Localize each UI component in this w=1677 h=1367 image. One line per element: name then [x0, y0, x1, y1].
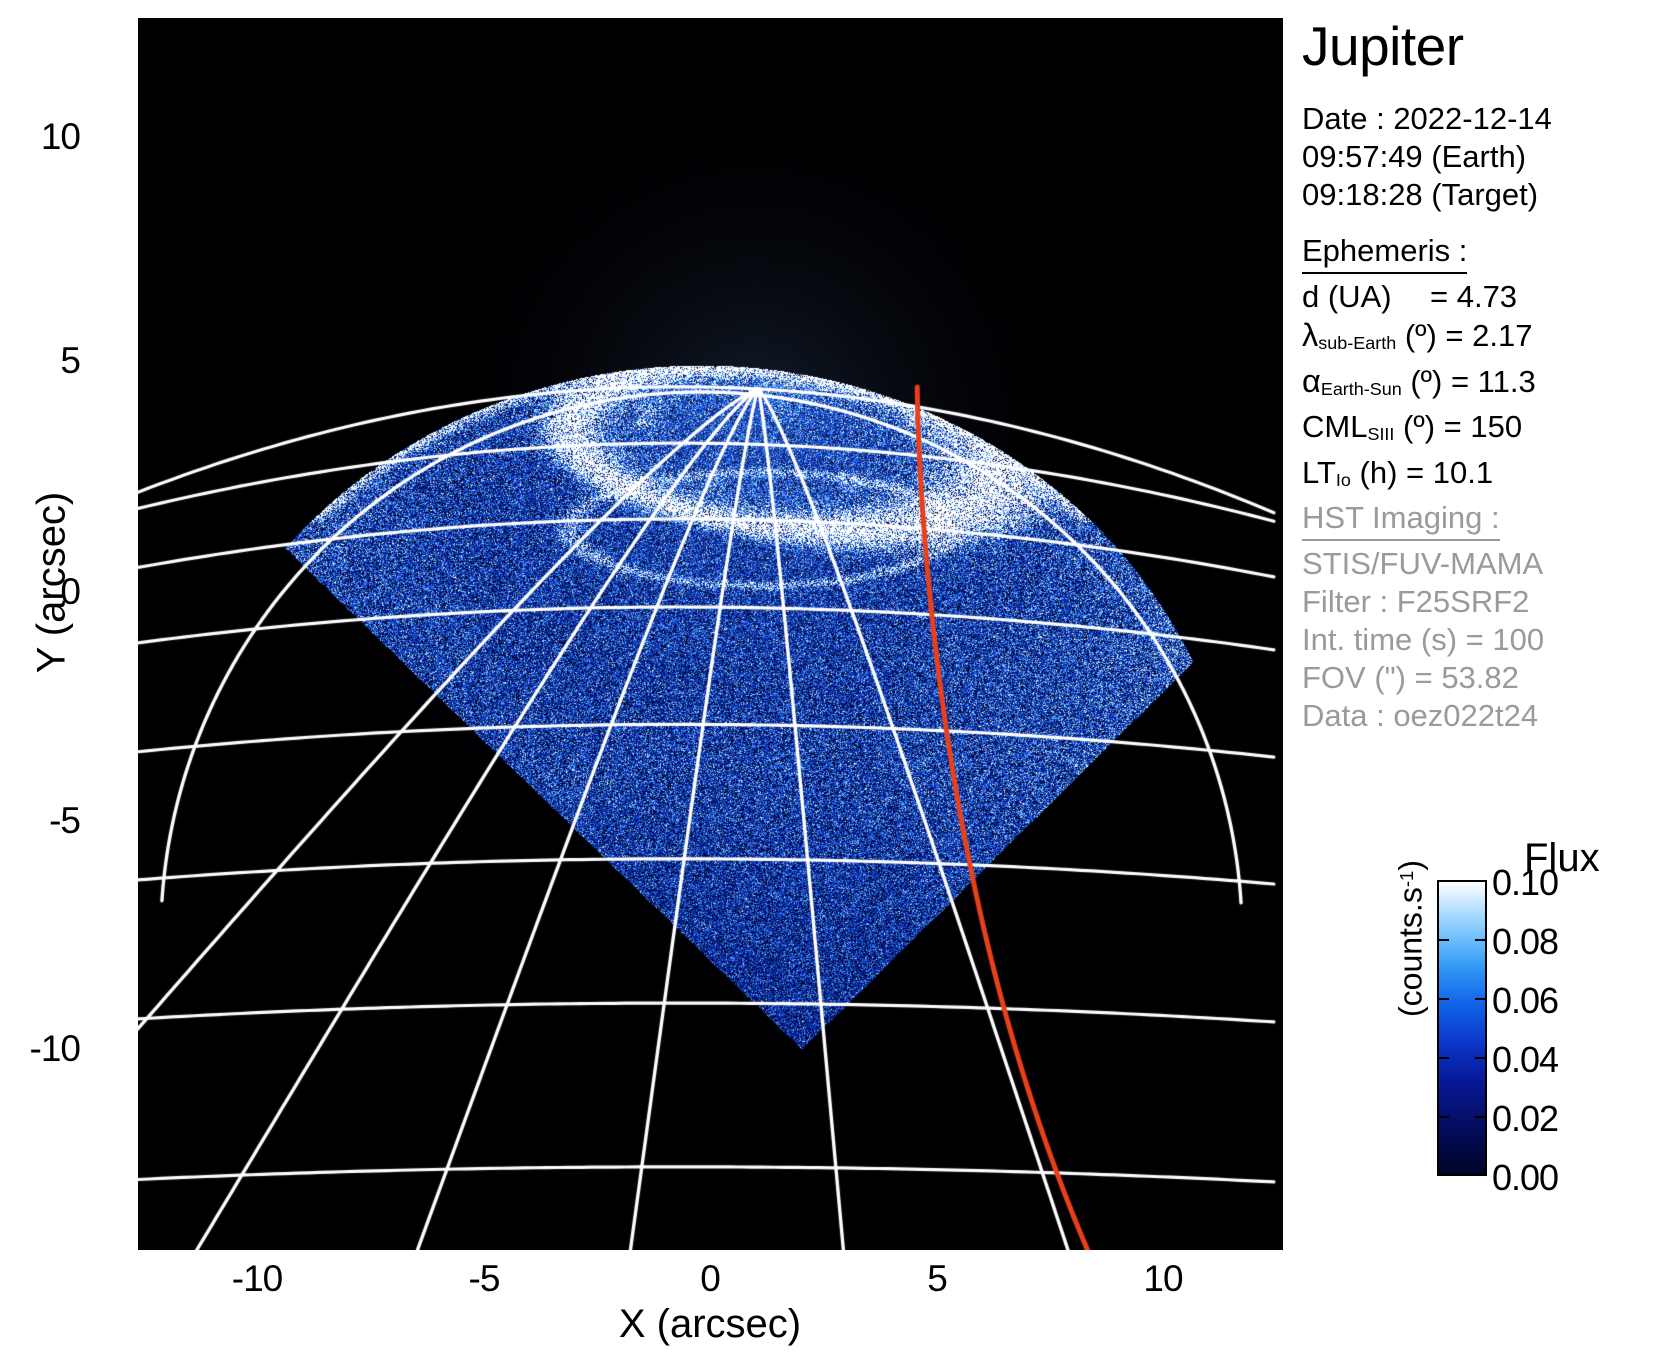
alpha-symbol: α — [1302, 363, 1321, 399]
hst-imaging-heading: HST Imaging : — [1302, 500, 1500, 541]
colorbar-mark-right-3 — [1475, 1057, 1487, 1059]
alpha-unit: (º) — [1410, 364, 1442, 399]
x-axis-label: X (arcsec) — [430, 1302, 990, 1347]
y-tick-10: 10 — [41, 116, 80, 158]
hst-imaging-block: STIS/FUV-MAMA Filter : F25SRF2 Int. time… — [1302, 545, 1544, 735]
y-axis-label: Y (arcsec) — [30, 453, 75, 713]
colorbar-tick-3: 0.04 — [1492, 1039, 1558, 1081]
x-tick-0: 0 — [650, 1258, 770, 1300]
colorbar-mark-left-1 — [1437, 939, 1449, 941]
x-tick--5: -5 — [424, 1258, 544, 1300]
lt-subscript: Io — [1336, 470, 1351, 490]
hst-fov: FOV (") = 53.82 — [1302, 659, 1544, 697]
hst-integration-time: Int. time (s) = 100 — [1302, 621, 1544, 659]
cml-label: CML — [1302, 409, 1367, 444]
observation-date-block: Date : 2022-12-14 09:57:49 (Earth) 09:18… — [1302, 100, 1552, 214]
colorbar-mark-left-2 — [1437, 998, 1449, 1000]
colorbar-unit-exponent: -1 — [1396, 871, 1417, 888]
colorbar-tick-2: 0.06 — [1492, 980, 1558, 1022]
jupiter-aurora-canvas — [138, 18, 1283, 1250]
colorbar-mark-right-4 — [1475, 1116, 1487, 1118]
flux-colorbar — [1437, 880, 1487, 1176]
colorbar-mark-left-4 — [1437, 1116, 1449, 1118]
lt-value: = 10.1 — [1406, 455, 1493, 490]
lt-label: LT — [1302, 455, 1336, 490]
cml-value: = 150 — [1444, 409, 1522, 444]
lambda-subscript: sub-Earth — [1318, 333, 1396, 353]
ephemeris-io-local-time: LTIo (h) = 10.1 — [1302, 454, 1536, 499]
colorbar-unit-text: (counts.s — [1393, 887, 1429, 1017]
ephemeris-phase-angle: αEarth-Sun (º) = 11.3 — [1302, 362, 1536, 408]
colorbar-tick-1: 0.08 — [1492, 921, 1558, 963]
colorbar-unit-label: (counts.s-1) — [1393, 829, 1430, 1049]
ephemeris-sub-earth-latitude: λsub-Earth (º) = 2.17 — [1302, 316, 1536, 362]
colorbar-mark-right-2 — [1475, 998, 1487, 1000]
y-tick--10: -10 — [30, 1028, 80, 1070]
lambda-value: = 2.17 — [1445, 318, 1532, 353]
cml-subscript: SIII — [1367, 425, 1394, 445]
hst-instrument: STIS/FUV-MAMA — [1302, 545, 1544, 583]
colorbar-unit-paren: ) — [1393, 860, 1429, 871]
page-title: Jupiter — [1302, 14, 1464, 78]
observation-time-target: 09:18:28 (Target) — [1302, 176, 1552, 214]
lt-unit: (h) — [1360, 455, 1398, 490]
observation-date: Date : 2022-12-14 — [1302, 100, 1552, 138]
alpha-value: = 11.3 — [1451, 364, 1536, 399]
hst-dataset: Data : oez022t24 — [1302, 697, 1544, 735]
ephemeris-block: d (UA)= 4.73 λsub-Earth (º) = 2.17 αEart… — [1302, 278, 1536, 499]
x-tick-10: 10 — [1103, 1258, 1223, 1300]
lambda-unit: (º) — [1405, 318, 1437, 353]
colorbar-mark-left-3 — [1437, 1057, 1449, 1059]
ephemeris-cml: CMLSIII (º) = 150 — [1302, 408, 1536, 453]
alpha-subscript: Earth-Sun — [1321, 379, 1402, 399]
colorbar-tick-0: 0.10 — [1492, 862, 1558, 904]
y-tick--5: -5 — [49, 800, 80, 842]
lambda-symbol: λ — [1302, 317, 1318, 353]
ephemeris-distance: d (UA)= 4.73 — [1302, 278, 1536, 316]
y-tick-5: 5 — [60, 340, 80, 382]
ephemeris-distance-label: d (UA) — [1302, 278, 1430, 316]
hst-filter: Filter : F25SRF2 — [1302, 583, 1544, 621]
colorbar-mark-right-1 — [1475, 939, 1487, 941]
x-tick--10: -10 — [197, 1258, 317, 1300]
observation-time-earth: 09:57:49 (Earth) — [1302, 138, 1552, 176]
info-panel: Jupiter Date : 2022-12-14 09:57:49 (Eart… — [1298, 0, 1677, 1367]
colorbar-tick-5: 0.00 — [1492, 1157, 1558, 1199]
ephemeris-heading: Ephemeris : — [1302, 233, 1467, 274]
cml-unit: (º) — [1403, 409, 1435, 444]
aurora-image-plot — [138, 18, 1283, 1250]
colorbar-tick-4: 0.02 — [1492, 1098, 1558, 1140]
ephemeris-distance-value: = 4.73 — [1430, 279, 1517, 314]
x-tick-5: 5 — [877, 1258, 997, 1300]
